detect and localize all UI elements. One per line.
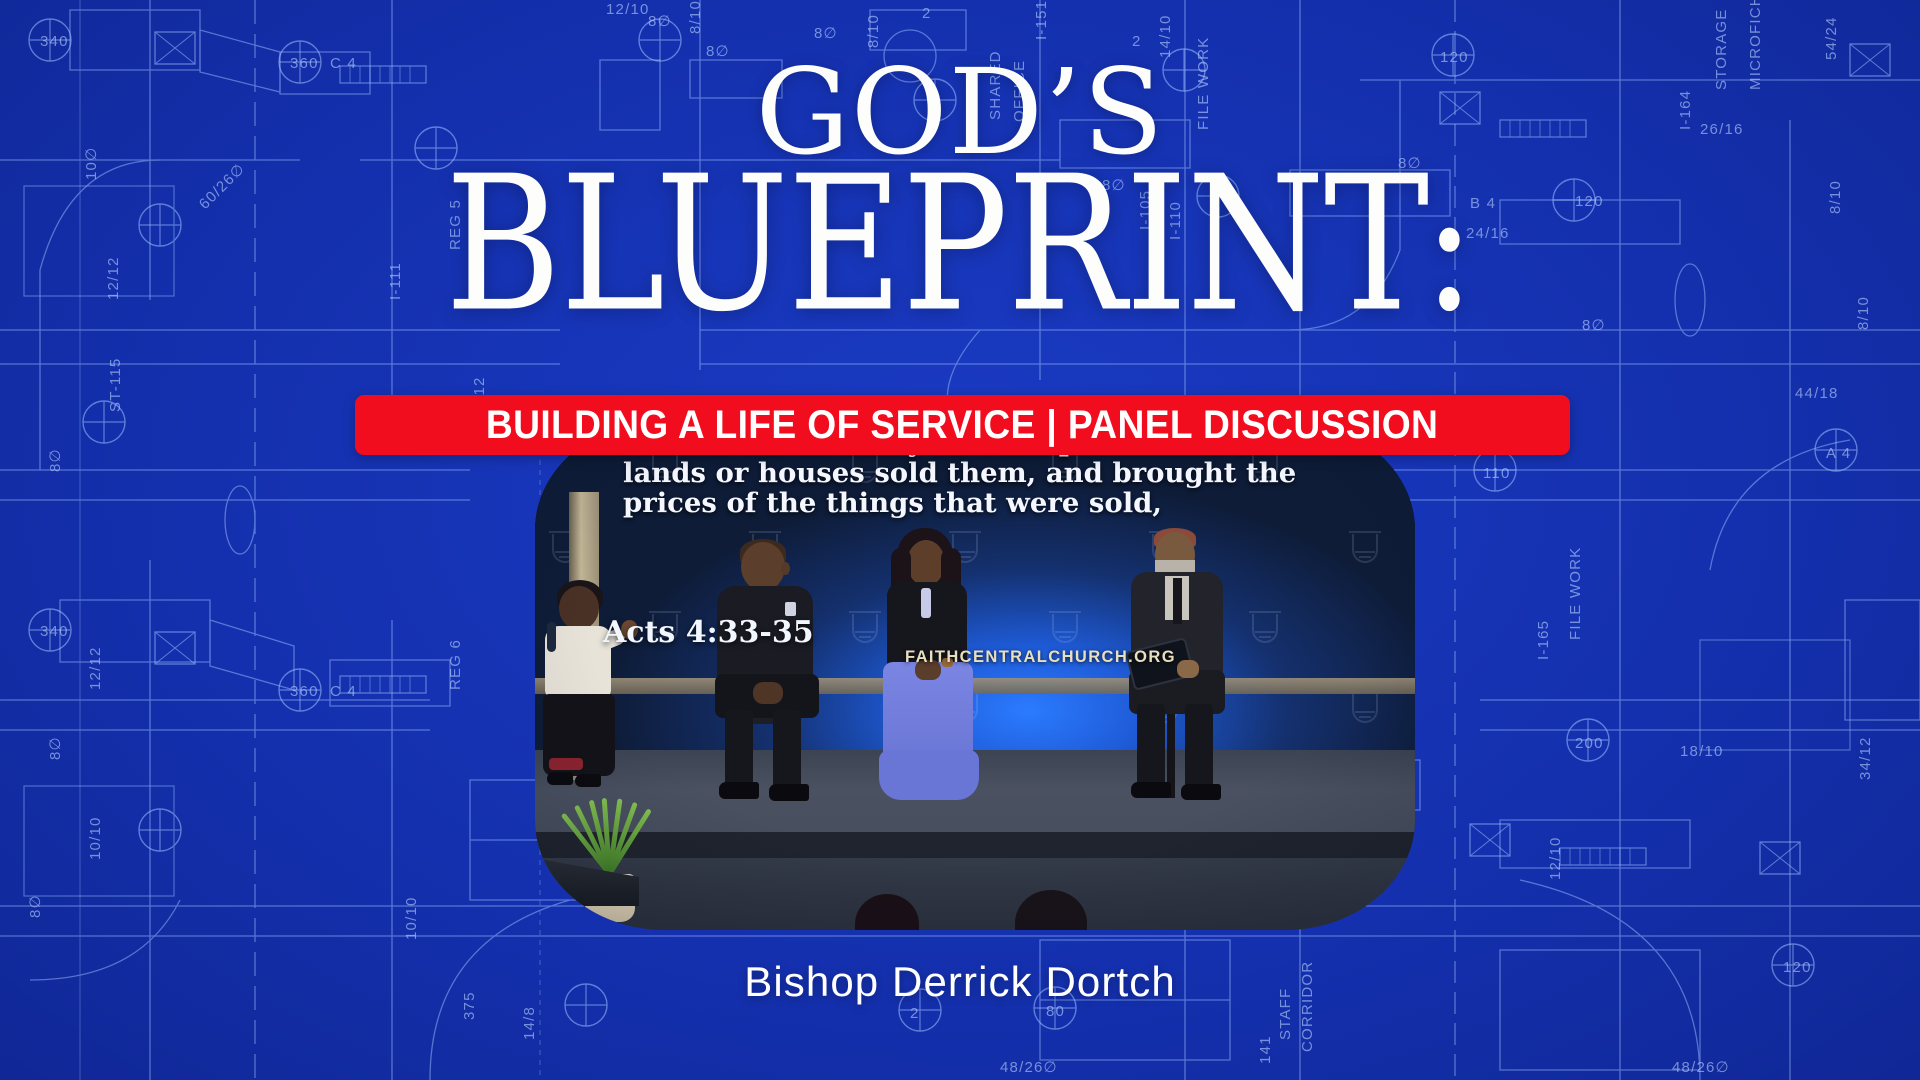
necklace	[921, 588, 931, 618]
svg-text:FILE WORK: FILE WORK	[1567, 547, 1584, 640]
svg-text:110: 110	[1483, 465, 1511, 482]
leg-right	[773, 710, 801, 788]
svg-text:14/8: 14/8	[521, 1006, 538, 1040]
leg-right	[1185, 704, 1213, 790]
svg-text:10/10: 10/10	[87, 816, 104, 860]
svg-text:ST-115: ST-115	[107, 358, 124, 412]
hands	[753, 682, 783, 704]
stage-edge	[535, 832, 1415, 858]
svg-text:8∅: 8∅	[27, 894, 44, 918]
chair-cushion	[549, 758, 583, 770]
shoe-left	[719, 782, 759, 799]
svg-text:2: 2	[922, 5, 932, 22]
shoe-left	[1131, 782, 1171, 798]
svg-text:48/26∅: 48/26∅	[1672, 1059, 1730, 1076]
shoe-right	[575, 774, 601, 787]
head	[741, 542, 785, 591]
svg-text:12/12: 12/12	[87, 646, 104, 690]
title-block: GOD’S BLUEPRINT:	[0, 58, 1920, 303]
svg-text:8∅: 8∅	[47, 448, 64, 472]
svg-text:141: 141	[1257, 1035, 1274, 1064]
svg-text:8∅: 8∅	[814, 25, 838, 42]
svg-text:8∅: 8∅	[648, 13, 672, 30]
subtitle-banner-text: BUILDING A LIFE OF SERVICE | PANEL DISCU…	[486, 403, 1438, 448]
scripture-line-4: prices of the things that were sold,	[623, 488, 1415, 519]
svg-text:200: 200	[1575, 735, 1604, 752]
shirt-logo	[785, 602, 796, 616]
gown-hem	[879, 750, 979, 800]
shoe-right	[1181, 784, 1221, 800]
svg-text:10/10: 10/10	[403, 896, 420, 940]
svg-text:34/12: 34/12	[1857, 736, 1874, 780]
svg-text:C 4: C 4	[330, 683, 357, 700]
svg-text:54/24: 54/24	[1823, 16, 1840, 60]
scripture-line-3: lands or houses sold them, and brought t…	[623, 458, 1415, 489]
hand	[1177, 660, 1199, 678]
shoe-left	[547, 772, 573, 785]
shoe-right	[769, 784, 809, 801]
stage-lower-floor	[535, 858, 1415, 930]
svg-text:A 4: A 4	[1826, 445, 1851, 462]
speaker-caption: Bishop Derrick Dortch	[0, 958, 1920, 1006]
leg-left	[725, 710, 753, 788]
necktie	[1173, 578, 1182, 624]
screen-verse-reference: Acts 4:33-35	[603, 615, 814, 650]
svg-text:8∅: 8∅	[47, 736, 64, 760]
svg-text:I-165: I-165	[1535, 620, 1552, 660]
svg-text:I-151: I-151	[1033, 0, 1050, 40]
subtitle-banner: BUILDING A LIFE OF SERVICE | PANEL DISCU…	[355, 395, 1570, 455]
svg-text:340: 340	[40, 623, 69, 640]
svg-text:8/10: 8/10	[687, 0, 704, 34]
page-title-line2: BLUEPRINT:	[0, 161, 1920, 329]
speaker-name: Bishop Derrick Dortch	[744, 958, 1176, 1005]
panelist-seated-man-black-shirt	[715, 542, 825, 804]
head	[907, 540, 945, 586]
svg-text:44/18: 44/18	[1795, 385, 1839, 402]
screen-website-url: FAITHCENTRALCHURCH.ORG	[905, 648, 1176, 667]
svg-text:18/10: 18/10	[1680, 743, 1724, 760]
leg-left	[1137, 704, 1165, 790]
microphone	[547, 622, 556, 652]
svg-text:2: 2	[910, 1005, 920, 1022]
svg-text:12/10: 12/10	[1547, 836, 1564, 880]
head	[559, 586, 599, 630]
graphic-canvas: 340 340 360 360 C 4 C 4 120 B 4 120 110 …	[0, 0, 1920, 1080]
panelist-woman-periwinkle-gown	[885, 532, 985, 804]
ear	[781, 562, 790, 575]
svg-text:12/10: 12/10	[606, 1, 650, 18]
svg-text:360: 360	[290, 683, 319, 700]
panel-discussion-stage-photo: 34 Neither was there any among them that…	[535, 420, 1415, 930]
svg-text:340: 340	[40, 33, 69, 50]
svg-text:REG 6: REG 6	[447, 639, 464, 690]
svg-text:48/26∅: 48/26∅	[1000, 1059, 1058, 1076]
